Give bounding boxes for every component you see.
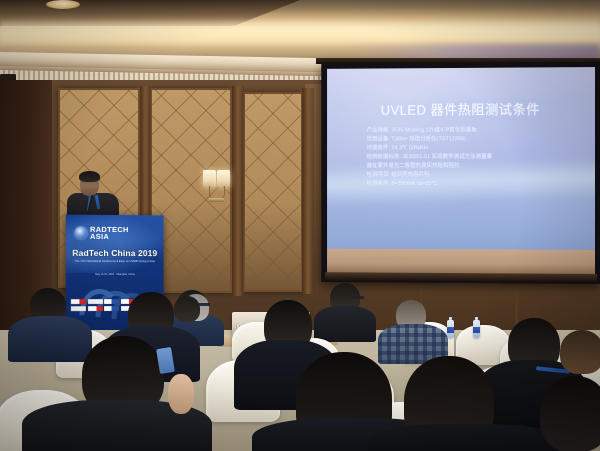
attendee-shoulders xyxy=(314,306,376,342)
sconce-shade xyxy=(203,170,216,187)
slide-title: UVLED 器件热阻测试条件 xyxy=(327,98,595,119)
water-bottle xyxy=(473,320,480,338)
radtech-seal-icon xyxy=(75,227,87,239)
event-date: May 13-15, 2019 · Shanghai, China xyxy=(72,273,158,276)
event-title: RadTech China 2019 xyxy=(66,248,164,258)
attendee-shoulders xyxy=(8,316,92,362)
sponsor-logo xyxy=(71,306,86,311)
slide-surface: UVLED 器件热阻测试条件 产品规格: 3535 Molding 120度IC… xyxy=(327,67,595,250)
attendee-head xyxy=(540,376,600,451)
sponsor-logo xyxy=(104,305,119,310)
presenter-hair xyxy=(79,171,100,182)
water-bottle xyxy=(447,320,454,338)
sconce-base xyxy=(209,198,224,202)
slide-line: 检测设备: T3Ster 热阻分析仪(TST12266) xyxy=(367,135,579,144)
screen-lower-band xyxy=(327,249,595,274)
slide-line: 检测依据标准: JESD51-51 实现数学测试方法测量暴 xyxy=(367,153,579,162)
attendee-head xyxy=(560,330,600,374)
sponsor-logo xyxy=(71,299,86,304)
projection-screen: UVLED 器件热阻测试条件 产品规格: 3535 Molding 120度IC… xyxy=(321,62,600,284)
ceiling-light-fixture xyxy=(46,0,80,9)
sconce-shade xyxy=(217,170,230,187)
slide-body: 产品规格: 3535 Molding 120度ICP氮化铝基板 检测设备: T3… xyxy=(367,126,579,189)
panel-divider xyxy=(302,88,314,294)
attendee-head xyxy=(174,296,200,322)
slide-line: 产品规格: 3535 Molding 120度ICP氮化铝基板 xyxy=(367,126,579,136)
radtech-asia-logo: RADTECH ASIA xyxy=(75,223,157,244)
logo-line-2: ASIA xyxy=(90,233,129,241)
attendee-hand xyxy=(168,374,194,414)
slide-line: 露在紫外发光二极管的真实热阻和阻抗 xyxy=(367,162,579,171)
slide-line: 检测条件: If=700mA Ta=25℃ xyxy=(367,180,579,189)
sponsor-logo xyxy=(87,306,102,311)
screen-weight-bar xyxy=(325,272,597,282)
wall-panel xyxy=(243,92,303,292)
event-subtitle: The 17th International Conference & Expo… xyxy=(72,260,158,264)
wall-sconce xyxy=(203,170,235,204)
slide-line: 检测项目: 结到壳热阻片阻 xyxy=(367,171,579,180)
sponsor-logo xyxy=(87,299,102,304)
slide-line: 环境条件: 24.3℃ 50%RH xyxy=(367,144,579,153)
eyeglasses xyxy=(352,296,364,299)
cove-lighting-glow xyxy=(0,18,600,44)
sponsor-logo xyxy=(104,299,119,304)
conference-photo-scene: UVLED 器件热阻测试条件 产品规格: 3535 Molding 120度IC… xyxy=(0,0,600,451)
attendee-shoulders xyxy=(368,424,564,451)
